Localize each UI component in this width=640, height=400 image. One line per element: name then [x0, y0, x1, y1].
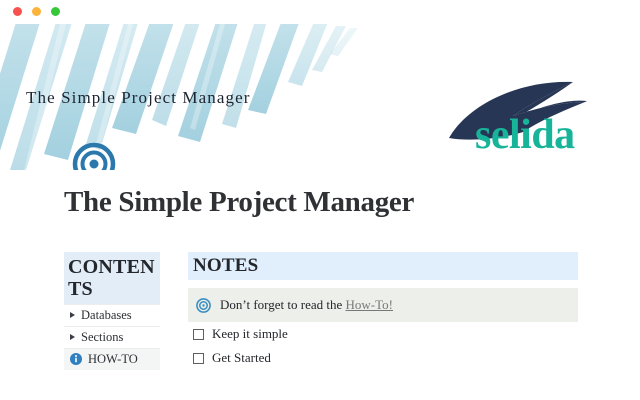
- checkbox[interactable]: [193, 353, 204, 364]
- zoom-button[interactable]: [51, 7, 60, 16]
- checkbox[interactable]: [193, 329, 204, 340]
- todo-label: Get Started: [212, 350, 271, 366]
- callout-text-wrap: Don’t forget to read the How-To!: [220, 297, 393, 313]
- logo-text: selida: [475, 114, 575, 156]
- notes-panel: NOTES Don’t forget to read the How-To! K…: [188, 252, 578, 370]
- banner-title: The Simple Project Manager: [26, 88, 251, 108]
- callout-text: Don’t forget to read the: [220, 297, 346, 312]
- chevron-right-icon[interactable]: [70, 312, 75, 318]
- contents-panel: CONTENTS Databases Sections HOW-TO: [64, 252, 160, 370]
- bullseye-icon: [196, 298, 211, 313]
- notes-callout: Don’t forget to read the How-To!: [188, 288, 578, 322]
- minimize-button[interactable]: [32, 7, 41, 16]
- close-button[interactable]: [13, 7, 22, 16]
- todo-item[interactable]: Get Started: [188, 346, 578, 370]
- bullseye-icon: [72, 142, 116, 170]
- page-body: CONTENTS Databases Sections HOW-TO NOTES: [0, 252, 640, 400]
- sidebar-item-databases[interactable]: Databases: [64, 304, 160, 326]
- todo-item[interactable]: Keep it simple: [188, 322, 578, 346]
- todo-label: Keep it simple: [212, 326, 288, 342]
- page-banner: The Simple Project Manager selida: [0, 24, 640, 170]
- sidebar-item-sections[interactable]: Sections: [64, 326, 160, 348]
- contents-header: CONTENTS: [64, 252, 160, 304]
- window-titlebar: [0, 0, 640, 24]
- selida-logo: selida: [445, 72, 605, 164]
- app-window: The Simple Project Manager selida The Si…: [0, 0, 640, 400]
- how-to-link[interactable]: How-To!: [346, 297, 393, 312]
- chevron-right-icon[interactable]: [70, 334, 75, 340]
- sidebar-item-label: Sections: [81, 330, 123, 345]
- notes-header: NOTES: [188, 252, 578, 280]
- page-title: The Simple Project Manager: [64, 186, 414, 219]
- info-icon: [70, 353, 82, 365]
- sidebar-item-label: HOW-TO: [88, 352, 138, 367]
- sidebar-item-how-to[interactable]: HOW-TO: [64, 348, 160, 370]
- sidebar-item-label: Databases: [81, 308, 132, 323]
